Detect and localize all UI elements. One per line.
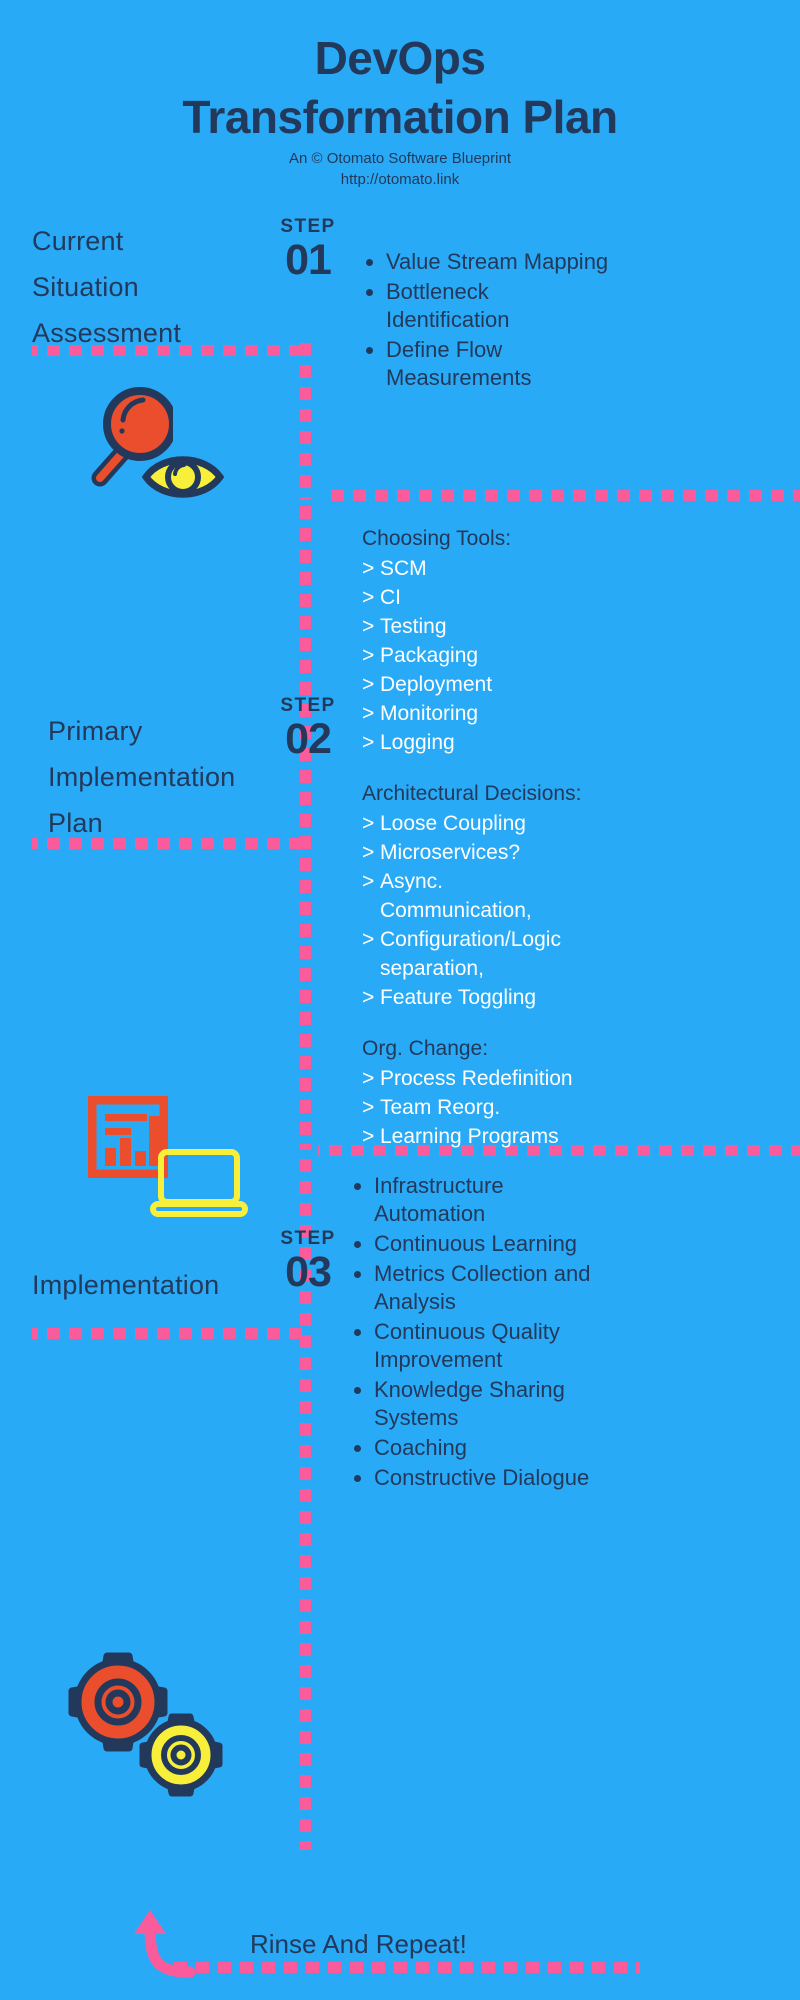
chevron-marker: > [362, 583, 374, 612]
list-item-label: Learning Programs [380, 1125, 559, 1148]
list-item: >CI [362, 583, 622, 612]
list-item: Bottleneck Identification [360, 278, 610, 334]
chevron-marker: > [362, 1064, 374, 1093]
list-item-continuation: Communication, [362, 896, 622, 925]
step-3-bullet-list: Infrastructure Automation Continuous Lea… [348, 1172, 618, 1494]
list-item: Constructive Dialogue [348, 1464, 618, 1492]
section-title-line: Primary [48, 708, 298, 754]
vertical-dashed-line-step2 [300, 500, 311, 1150]
page-title-line-1: DevOps [0, 30, 800, 86]
list-item: Value Stream Mapping [360, 248, 610, 276]
footer-caption: Rinse And Repeat! [250, 1928, 467, 1960]
eye-icon [140, 448, 226, 506]
list-item-label: Monitoring [380, 702, 478, 725]
chevron-marker: > [362, 728, 374, 757]
step-word-label: STEP [268, 695, 348, 717]
list-item-label: Logging [380, 731, 455, 754]
horizontal-dashed-line-6 [170, 1962, 640, 1973]
section-title-line: Assessment [32, 310, 282, 356]
list-item-label: Packaging [380, 644, 478, 667]
chevron-marker: > [362, 1093, 374, 1122]
step-number-label: 01 [268, 238, 348, 282]
loop-arrow-icon [128, 1900, 208, 1980]
infographic-canvas: DevOps Transformation Plan An © Otomato … [0, 0, 800, 2000]
list-item: >Microservices? [362, 838, 622, 867]
section-title-line: Situation [32, 264, 282, 310]
list-item-label: Async. [380, 870, 443, 893]
list-item: Metrics Collection and Analysis [348, 1260, 618, 1316]
list-item: >Loose Coupling [362, 809, 622, 838]
step-number-label: 03 [268, 1250, 348, 1294]
list-item: >Monitoring [362, 699, 622, 728]
list-item-continuation: separation, [362, 954, 622, 983]
chevron-marker: > [362, 983, 374, 1012]
chevron-marker: > [362, 838, 374, 867]
list-item: >Learning Programs [362, 1122, 622, 1151]
list-item-label: Feature Toggling [380, 986, 536, 1009]
step-word-label: STEP [268, 1228, 348, 1250]
list-item: Continuous Quality Improvement [348, 1318, 618, 1374]
list-item: >Deployment [362, 670, 622, 699]
group-choosing-tools: Choosing Tools: >SCM >CI >Testing >Packa… [362, 524, 622, 757]
list-item: Define Flow Measurements [360, 336, 610, 392]
list-item-label: Deployment [380, 673, 492, 696]
chevron-marker: > [362, 554, 374, 583]
subtitle: An © Otomato Software Blueprint [0, 148, 800, 169]
step-word-label: STEP [268, 216, 348, 238]
list-item: >Testing [362, 612, 622, 641]
list-item-label: Process Redefinition [380, 1067, 573, 1090]
list-item: Coaching [348, 1434, 618, 1462]
group-architectural-decisions: Architectural Decisions: >Loose Coupling… [362, 779, 622, 1012]
list-item: >Configuration/Logic [362, 925, 622, 954]
list-item-label: CI [380, 586, 401, 609]
list-item: >Packaging [362, 641, 622, 670]
chevron-marker: > [362, 641, 374, 670]
source-url: http://otomato.link [0, 169, 800, 191]
list-item-label: SCM [380, 557, 427, 580]
list-item-label: Testing [380, 615, 447, 638]
chevron-marker: > [362, 670, 374, 699]
section-title-line: Implementation [48, 754, 298, 800]
gear-yellow-icon [138, 1712, 224, 1798]
list-item-label: Configuration/Logic [380, 928, 561, 951]
chevron-marker: > [362, 1122, 374, 1151]
page-title-line-2: Transformation Plan [0, 86, 800, 148]
section-title-step-1: Current Situation Assessment [32, 218, 282, 356]
group-heading: Architectural Decisions: [362, 779, 622, 809]
laptop-icon [150, 1148, 248, 1220]
group-heading: Org. Change: [362, 1034, 622, 1064]
section-title-step-2: Primary Implementation Plan [48, 708, 298, 846]
section-title-step-3: Implementation [32, 1262, 302, 1308]
list-item: >Logging [362, 728, 622, 757]
step-badge-1: STEP 01 [268, 216, 348, 282]
list-item-label: Loose Coupling [380, 812, 526, 835]
list-item-label: Team Reorg. [380, 1096, 500, 1119]
chevron-marker: > [362, 612, 374, 641]
list-item: Infrastructure Automation [348, 1172, 618, 1228]
horizontal-dashed-line-2 [322, 490, 800, 501]
list-item: >SCM [362, 554, 622, 583]
list-item: >Process Redefinition [362, 1064, 622, 1093]
list-item: Continuous Learning [348, 1230, 618, 1258]
list-item: >Team Reorg. [362, 1093, 622, 1122]
list-item: >Async. [362, 867, 622, 896]
header: DevOps Transformation Plan An © Otomato … [0, 30, 800, 191]
step-badge-3: STEP 03 [268, 1228, 348, 1294]
list-item-label: Microservices? [380, 841, 520, 864]
step-2-content: Choosing Tools: >SCM >CI >Testing >Packa… [362, 524, 622, 1173]
vertical-dashed-line-step1 [300, 340, 311, 500]
chevron-marker: > [362, 925, 374, 954]
list-item: Knowledge Sharing Systems [348, 1376, 618, 1432]
group-heading: Choosing Tools: [362, 524, 622, 554]
step-1-bullet-list: Value Stream Mapping Bottleneck Identifi… [360, 248, 610, 394]
section-title-line: Plan [48, 800, 298, 846]
chevron-marker: > [362, 809, 374, 838]
list-item: >Feature Toggling [362, 983, 622, 1012]
chevron-marker: > [362, 867, 374, 896]
section-title-line: Implementation [32, 1262, 302, 1308]
chevron-marker: > [362, 699, 374, 728]
horizontal-dashed-line-5 [32, 1328, 304, 1339]
step-number-label: 02 [268, 717, 348, 761]
section-title-line: Current [32, 218, 282, 264]
group-org-change: Org. Change: >Process Redefinition >Team… [362, 1034, 622, 1151]
step-badge-2: STEP 02 [268, 695, 348, 761]
